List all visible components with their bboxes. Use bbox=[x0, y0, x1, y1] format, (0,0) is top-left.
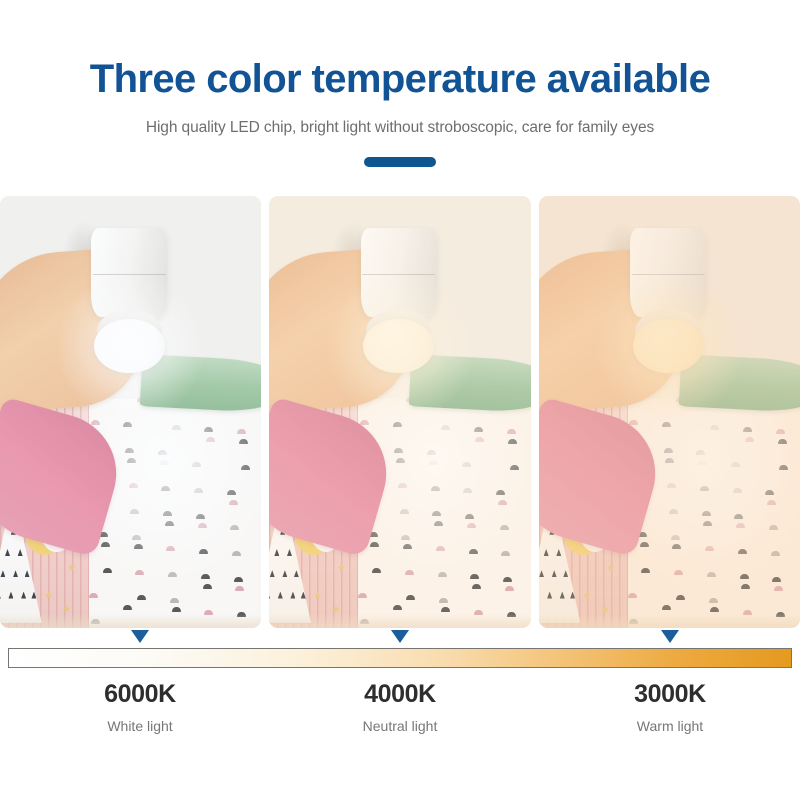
ceiling-fan bbox=[0, 196, 261, 628]
led-light bbox=[363, 319, 434, 373]
page-subtitle: High quality LED chip, bright light with… bbox=[0, 119, 800, 137]
light-name-4000k: Neutral light bbox=[320, 718, 480, 734]
color-temperature-bar bbox=[8, 648, 792, 668]
fan-motor-housing bbox=[91, 228, 167, 317]
label-group-3000k: 3000K Warm light bbox=[590, 680, 750, 734]
led-light bbox=[633, 319, 704, 373]
kelvin-value-4000k: 4000K bbox=[320, 680, 480, 709]
marker-3000k bbox=[661, 630, 679, 643]
kelvin-value-3000k: 3000K bbox=[590, 680, 750, 709]
marker-6000k bbox=[131, 630, 149, 643]
accent-divider bbox=[364, 157, 436, 167]
fan-blade-green bbox=[140, 354, 261, 413]
fan-blade-pink bbox=[0, 397, 130, 558]
header: Three color temperature available High q… bbox=[0, 0, 800, 167]
fan-motor-housing bbox=[630, 228, 706, 317]
label-group-6000k: 6000K White light bbox=[60, 680, 220, 734]
fan-blade-pink bbox=[539, 397, 669, 558]
product-feature-page: Three color temperature available High q… bbox=[0, 0, 800, 800]
page-title: Three color temperature available bbox=[0, 58, 800, 100]
light-name-6000k: White light bbox=[60, 718, 220, 734]
fan-blade-pink bbox=[269, 397, 399, 558]
scale-markers bbox=[0, 630, 800, 646]
panel-warm[interactable] bbox=[539, 196, 800, 628]
panel-neutral[interactable] bbox=[269, 196, 530, 628]
fan-motor-housing bbox=[361, 228, 437, 317]
color-temperature-gallery bbox=[0, 196, 800, 628]
kelvin-value-6000k: 6000K bbox=[60, 680, 220, 709]
light-name-3000k: Warm light bbox=[590, 718, 750, 734]
marker-4000k bbox=[391, 630, 409, 643]
scale-labels: 6000K White light 4000K Neutral light 30… bbox=[0, 680, 800, 740]
label-group-4000k: 4000K Neutral light bbox=[320, 680, 480, 734]
ceiling-fan bbox=[539, 196, 800, 628]
panel-cool[interactable] bbox=[0, 196, 261, 628]
ceiling-fan bbox=[269, 196, 530, 628]
fan-blade-green bbox=[409, 354, 530, 413]
fan-blade-green bbox=[679, 354, 800, 413]
led-light bbox=[94, 319, 165, 373]
